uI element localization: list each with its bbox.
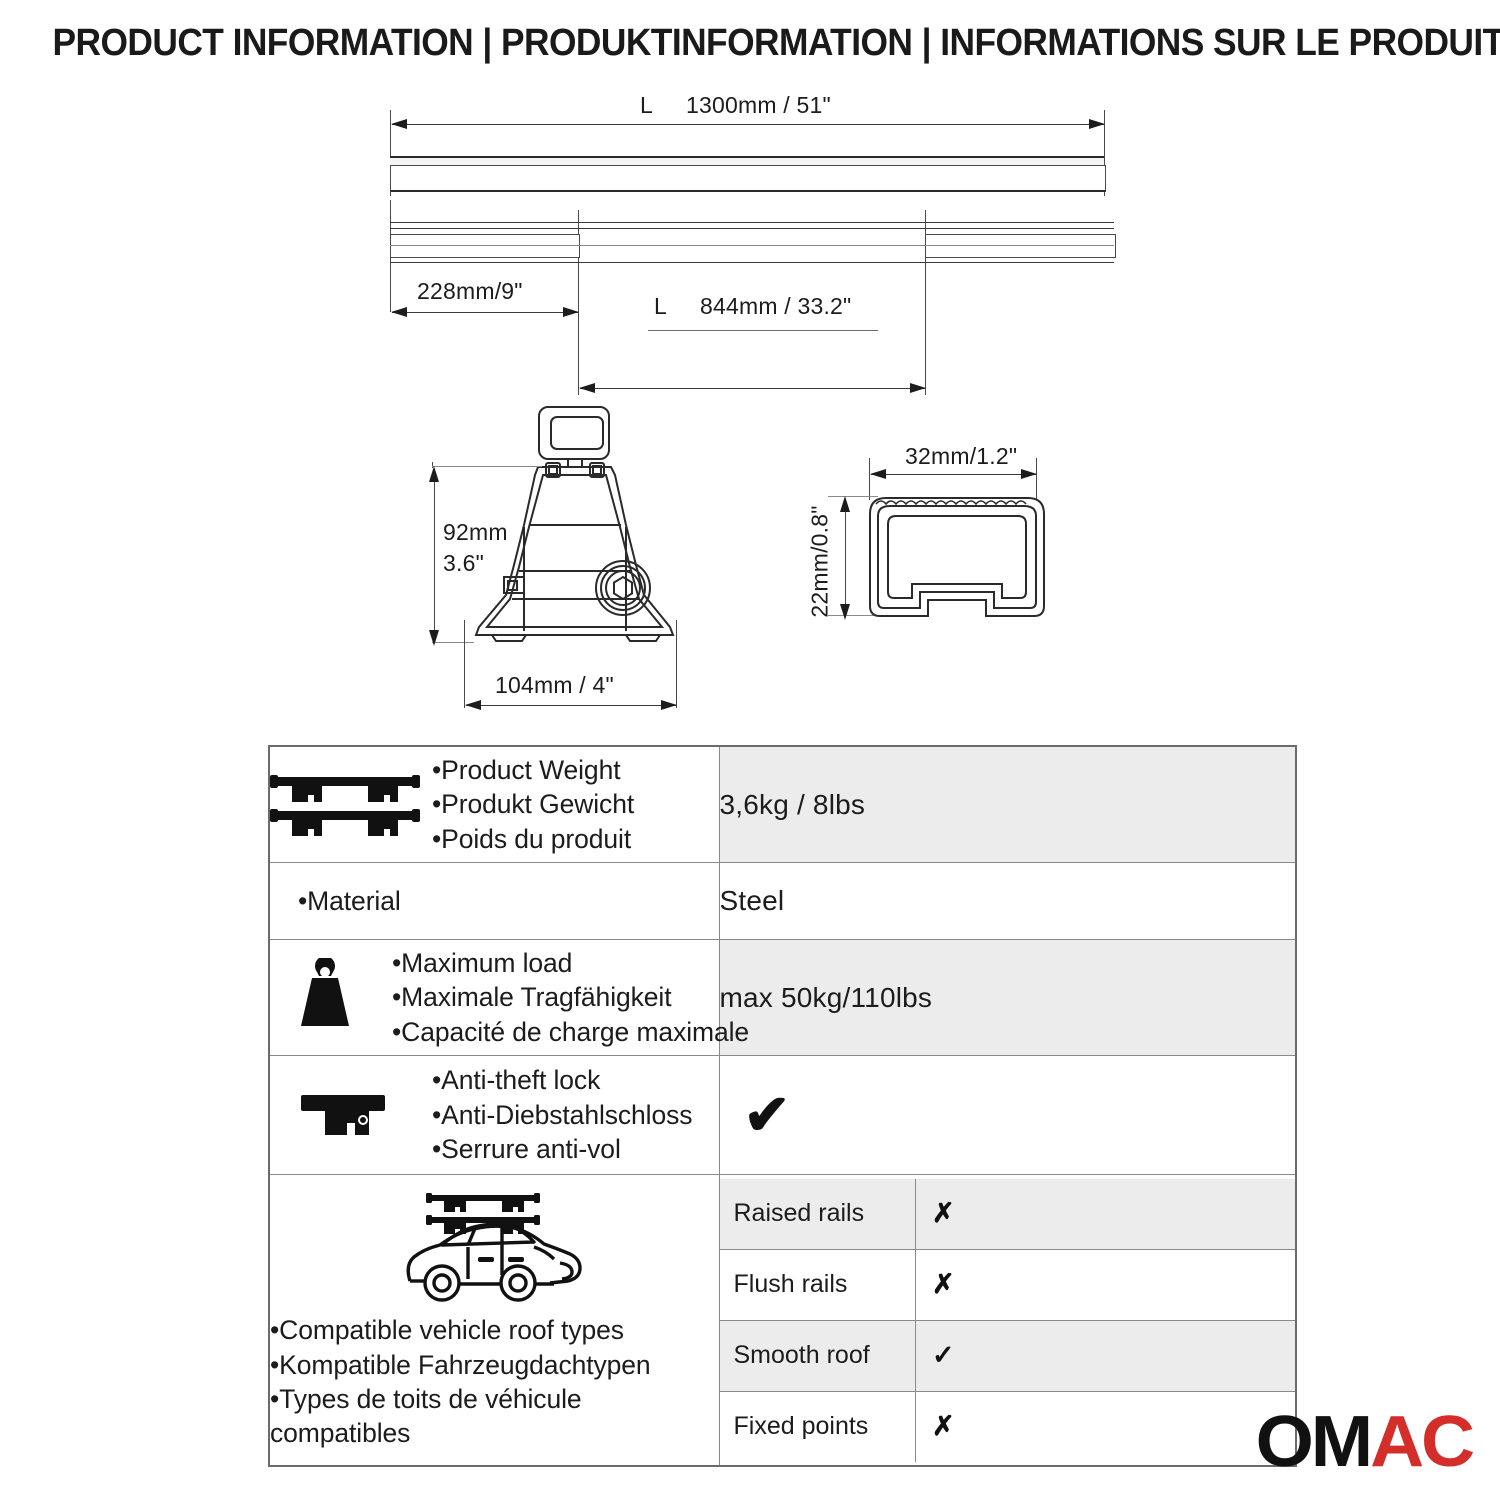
roof-type-mark-icon: ✗ xyxy=(916,1411,1297,1442)
extension-line-foot-width-right xyxy=(676,620,677,708)
arrow-left-icon xyxy=(870,469,886,479)
product-weight-label-cell: •Product Weight •Produkt Gewicht •Poids … xyxy=(269,746,719,863)
table-row: •Product Weight •Produkt Gewicht •Poids … xyxy=(269,746,1296,863)
anti-theft-bullets: •Anti-theft lock •Anti-Diebstahlschloss … xyxy=(432,1063,692,1166)
bullet-line: •Types de toits de véhicule xyxy=(270,1382,719,1416)
arrow-down-icon xyxy=(429,630,439,646)
compat-bullets: •Compatible vehicle roof types •Kompatib… xyxy=(270,1313,719,1451)
rail-second-foot-left xyxy=(390,234,580,258)
roof-type-mark-icon: ✗ xyxy=(916,1269,1297,1300)
rail-second-line-1 xyxy=(390,222,1114,223)
arrow-right-icon xyxy=(661,700,677,710)
roof-type-name-cell: Flush rails xyxy=(720,1249,916,1320)
length-dimension-label: 1300mm / 51" xyxy=(686,92,831,119)
roof-type-mark-cell: ✗ xyxy=(916,1249,1297,1320)
arrow-right-icon xyxy=(1089,119,1105,129)
bullet-line: •Capacité de charge maximale xyxy=(392,1015,749,1049)
arrow-right-icon xyxy=(1021,469,1037,479)
rail-second-line-2 xyxy=(390,228,1114,229)
arrow-right-icon xyxy=(563,307,579,317)
roof-type-name-cell: Raised rails xyxy=(720,1179,916,1250)
material-label-cell: •Material xyxy=(269,863,719,940)
roof-type-name: Fixed points xyxy=(720,1412,916,1441)
bullet-line: •Kompatible Fahrzeugdachtypen xyxy=(270,1348,719,1382)
roof-type-row: Smooth roof ✓ xyxy=(720,1320,1297,1391)
bullet-line: •Poids du produit xyxy=(432,822,634,856)
section-width-label: 32mm/1.2" xyxy=(905,443,1017,470)
rail-second-midline xyxy=(390,245,1114,246)
roof-type-row: Flush rails ✗ xyxy=(720,1249,1297,1320)
section-height-dimension-line xyxy=(845,500,846,610)
foot-width-dimension-line xyxy=(466,705,676,706)
foot-height-inch-label: 3.6" xyxy=(443,550,484,577)
car-with-rack-icon xyxy=(394,1189,594,1307)
rail-second-line-3 xyxy=(390,262,1114,263)
section-height-label: 22mm/0.8" xyxy=(807,505,834,617)
bullet-line: •Maximale Tragfähigkeit xyxy=(392,980,749,1014)
max-load-bullets: •Maximum load •Maximale Tragfähigkeit •C… xyxy=(392,946,749,1049)
anti-theft-check-icon: ✔ xyxy=(720,1087,1296,1143)
bullet-line: •Product Weight xyxy=(432,753,634,787)
anti-theft-label-cell: •Anti-theft lock •Anti-Diebstahlschloss … xyxy=(269,1056,719,1175)
rail-top-profile-body xyxy=(390,165,1106,192)
offset-dimension-line xyxy=(392,312,578,313)
span-dimension-line xyxy=(580,388,925,389)
arrow-down-icon xyxy=(840,604,850,620)
extension-line-foot-width-left xyxy=(464,620,465,708)
logo-text-red: AC xyxy=(1370,1402,1472,1482)
table-row: •Material Steel xyxy=(269,863,1296,940)
compat-label-cell: •Compatible vehicle roof types •Kompatib… xyxy=(269,1175,719,1467)
material-value: Steel xyxy=(719,863,1296,940)
bullet-line: •Maximum load xyxy=(392,946,749,980)
foot-width-label: 104mm / 4" xyxy=(495,672,614,699)
span-label-underline xyxy=(648,330,878,331)
arrow-right-icon xyxy=(910,383,926,393)
span-symbol: L xyxy=(654,293,667,320)
rail-cross-section-drawing xyxy=(862,488,1052,628)
material-bullets: •Material xyxy=(270,884,719,918)
arrow-left-icon xyxy=(391,119,407,129)
bullet-line: compatibles xyxy=(270,1416,719,1450)
bullet-line: •Material xyxy=(298,884,719,918)
roof-type-name-cell: Fixed points xyxy=(720,1391,916,1462)
weight-icon xyxy=(270,958,380,1038)
span-dimension-label: 844mm / 33.2" xyxy=(700,293,851,320)
roof-type-row: Fixed points ✗ xyxy=(720,1391,1297,1462)
length-symbol: L xyxy=(640,92,653,119)
crossbars-icon xyxy=(270,769,420,841)
product-weight-value: 3,6kg / 8lbs xyxy=(719,746,1296,863)
arrow-up-icon xyxy=(429,466,439,482)
max-load-value: max 50kg/110lbs xyxy=(719,940,1296,1056)
table-row: •Maximum load •Maximale Tragfähigkeit •C… xyxy=(269,940,1296,1056)
arrow-left-icon xyxy=(465,700,481,710)
roof-types-cell: Raised rails ✗ Flush rails xyxy=(719,1175,1296,1467)
table-row: •Anti-theft lock •Anti-Diebstahlschloss … xyxy=(269,1056,1296,1175)
omac-logo: OMAC xyxy=(1256,1406,1472,1478)
roof-types-subtable: Raised rails ✗ Flush rails xyxy=(720,1179,1297,1462)
anti-theft-value-cell: ✔ xyxy=(719,1056,1296,1175)
arrow-up-icon xyxy=(840,496,850,512)
table-row: •Compatible vehicle roof types •Kompatib… xyxy=(269,1175,1296,1467)
offset-dimension-label: 228mm/9" xyxy=(417,278,523,305)
bullet-line: •Produkt Gewicht xyxy=(432,787,634,821)
arrow-left-icon xyxy=(579,383,595,393)
bullet-line: •Compatible vehicle roof types xyxy=(270,1313,719,1347)
roof-type-mark-cell: ✗ xyxy=(916,1391,1297,1462)
roof-type-mark-icon: ✗ xyxy=(916,1198,1297,1229)
product-information-sheet: PRODUCT INFORMATION | PRODUKTINFORMATION… xyxy=(0,0,1500,1500)
specification-table: •Product Weight •Produkt Gewicht •Poids … xyxy=(268,745,1297,1467)
roof-type-name: Flush rails xyxy=(720,1270,916,1299)
rail-second-foot-right xyxy=(925,234,1116,258)
bullet-line: •Anti-theft lock xyxy=(432,1063,692,1097)
foot-height-upper-ext xyxy=(432,466,542,467)
foot-height-label: 92mm xyxy=(443,519,508,546)
page-title: PRODUCT INFORMATION | PRODUKTINFORMATION… xyxy=(53,22,1448,65)
bullet-line: •Serrure anti-vol xyxy=(432,1132,692,1166)
roof-type-row: Raised rails ✗ xyxy=(720,1179,1297,1250)
roof-type-mark-cell: ✓ xyxy=(916,1320,1297,1391)
section-width-dimension-line xyxy=(871,474,1036,475)
product-weight-bullets: •Product Weight •Produkt Gewicht •Poids … xyxy=(432,753,634,856)
foot-height-dimension-line xyxy=(434,470,435,638)
lock-icon xyxy=(270,1085,420,1145)
length-dimension-line xyxy=(392,124,1104,125)
roof-type-name: Smooth roof xyxy=(720,1341,916,1370)
logo-text-dark: OM xyxy=(1256,1402,1370,1482)
roof-type-name: Raised rails xyxy=(720,1199,916,1228)
roof-type-name-cell: Smooth roof xyxy=(720,1320,916,1391)
roof-type-mark-icon: ✓ xyxy=(916,1340,1297,1371)
bullet-line: •Anti-Diebstahlschloss xyxy=(432,1098,692,1132)
roof-type-mark-cell: ✗ xyxy=(916,1179,1297,1250)
arrow-left-icon xyxy=(391,307,407,317)
max-load-label-cell: •Maximum load •Maximale Tragfähigkeit •C… xyxy=(269,940,719,1056)
